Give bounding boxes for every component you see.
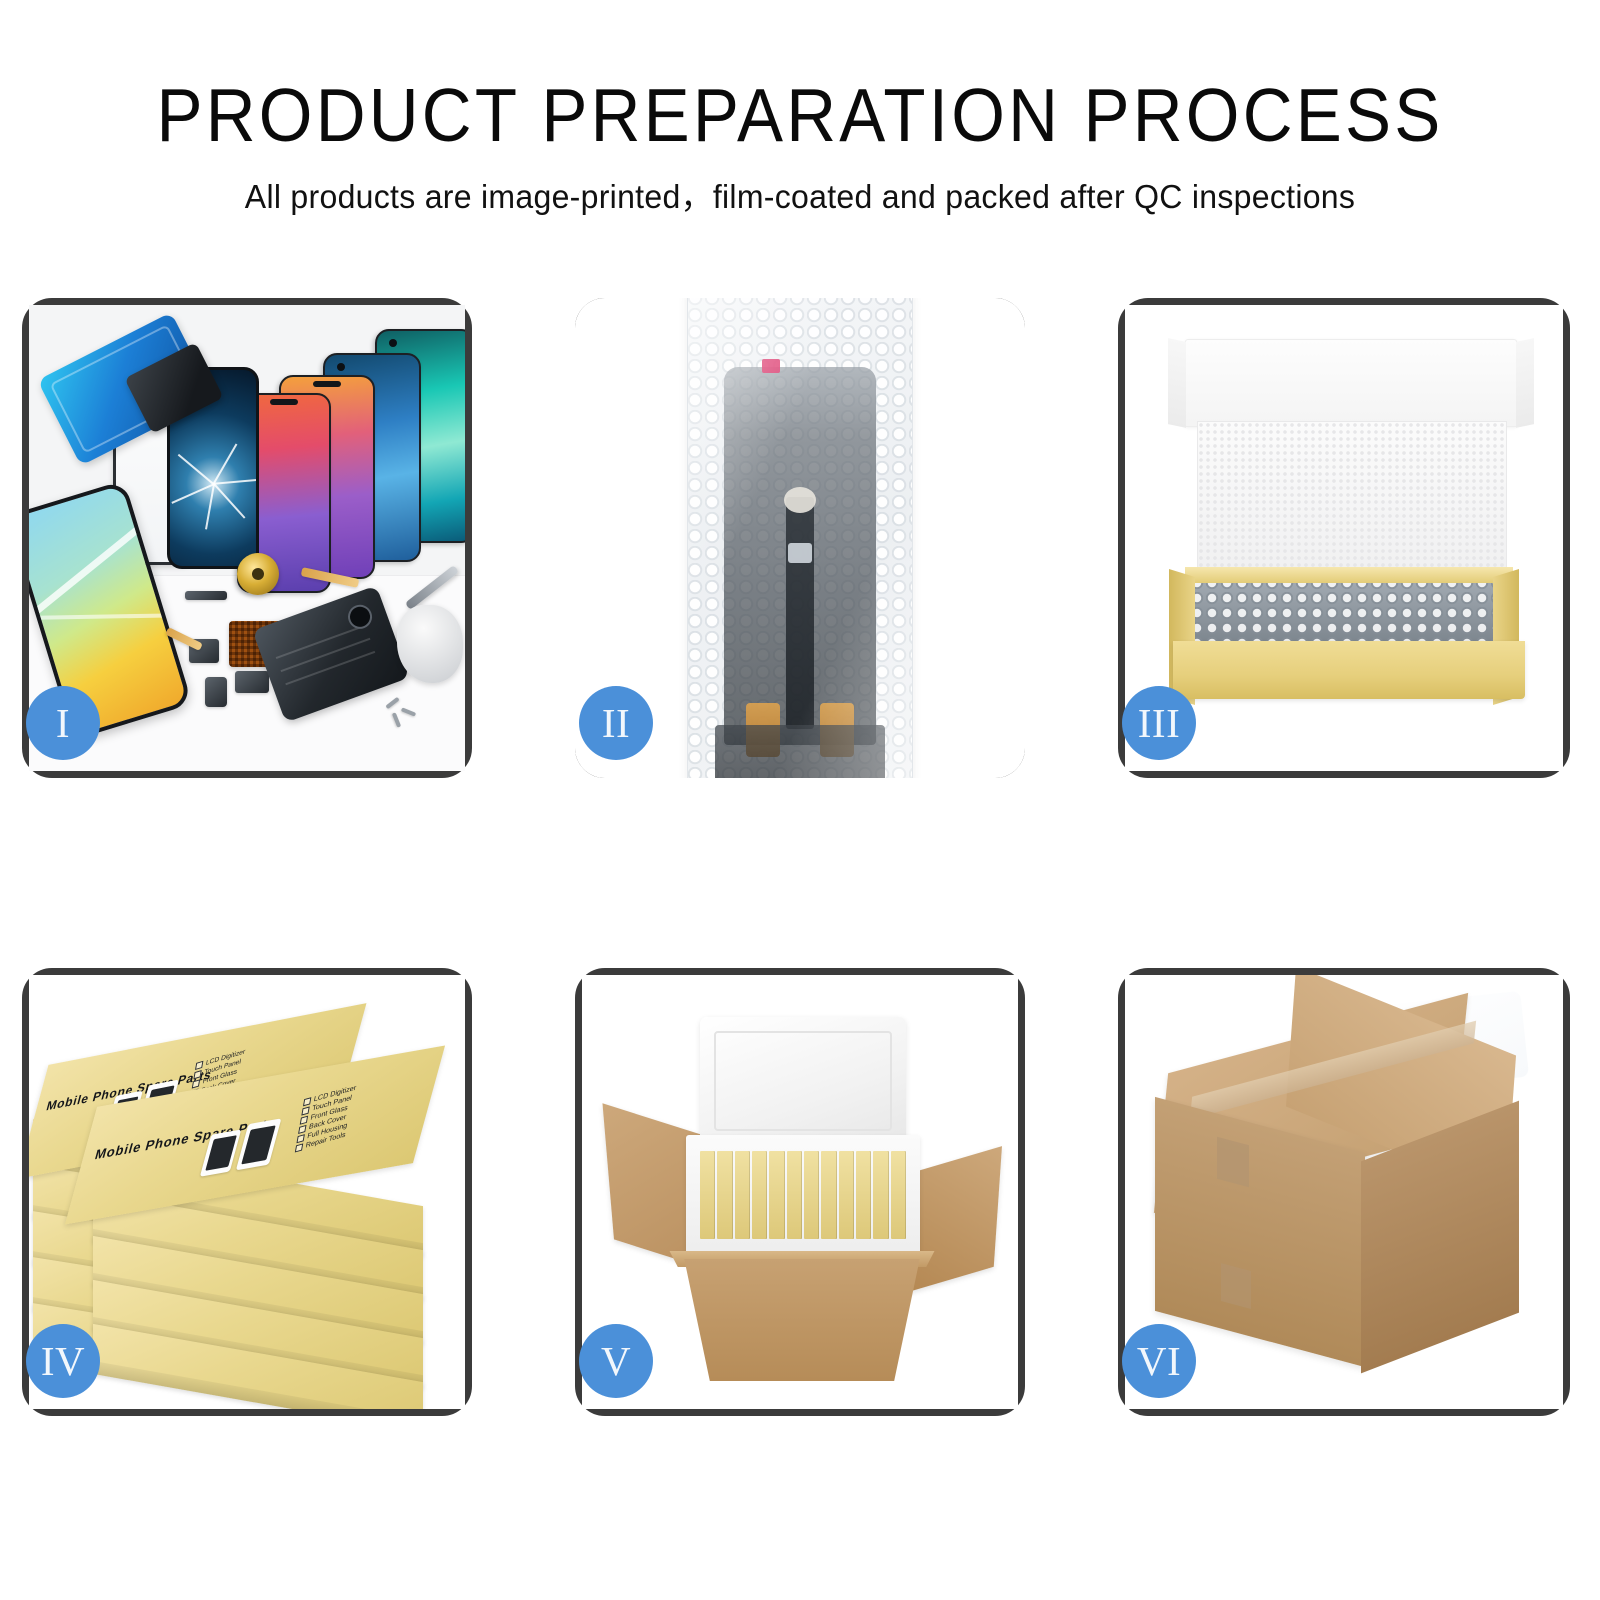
screen-bottom-assembly	[715, 725, 885, 778]
packing-tape-tab-lower	[1221, 1263, 1251, 1309]
step-badge-1: I	[26, 686, 100, 760]
step-badge-3: III	[1122, 686, 1196, 760]
screen-connector	[784, 487, 816, 513]
packing-tape-tab-upper	[1217, 1137, 1249, 1188]
step-badge-5: V	[579, 1324, 653, 1398]
foam-cooler-lid	[700, 1017, 906, 1145]
step-badge-4: IV	[26, 1324, 100, 1398]
retail-box-checklist-front: LCD Digitizer Touch Panel Front Glass Ba…	[295, 1085, 357, 1153]
phone-parts-montage	[29, 305, 465, 771]
process-steps-grid: I II	[0, 0, 1600, 1600]
step-1-image	[29, 305, 465, 771]
white-foam-sheet	[1197, 421, 1507, 579]
bubble-wrap-bag	[687, 298, 913, 778]
grey-bubble-wrap-layer	[1191, 577, 1509, 641]
mailer-tray-front-wall	[1173, 641, 1525, 699]
charging-port-flex	[235, 671, 269, 693]
step-badge-2: II	[579, 686, 653, 760]
earpiece-speaker	[185, 591, 227, 600]
screen-flex-ribbon	[786, 497, 814, 729]
open-mailer-box	[1125, 305, 1563, 771]
pink-qc-sticker	[762, 359, 780, 373]
sim-tray	[205, 677, 227, 707]
wireless-charging-coil	[237, 553, 279, 595]
step-badge-6: VI	[1122, 1324, 1196, 1398]
gold-boxes-inside-foam	[700, 1151, 906, 1239]
mailer-tray-top-edge	[1185, 567, 1513, 583]
mailer-lid-flap	[1185, 339, 1517, 427]
step-3-image	[1125, 305, 1563, 771]
work-glove	[397, 605, 463, 683]
driver-ic-chip	[788, 543, 812, 563]
screws-group	[385, 701, 431, 727]
carton-body	[674, 1259, 930, 1381]
